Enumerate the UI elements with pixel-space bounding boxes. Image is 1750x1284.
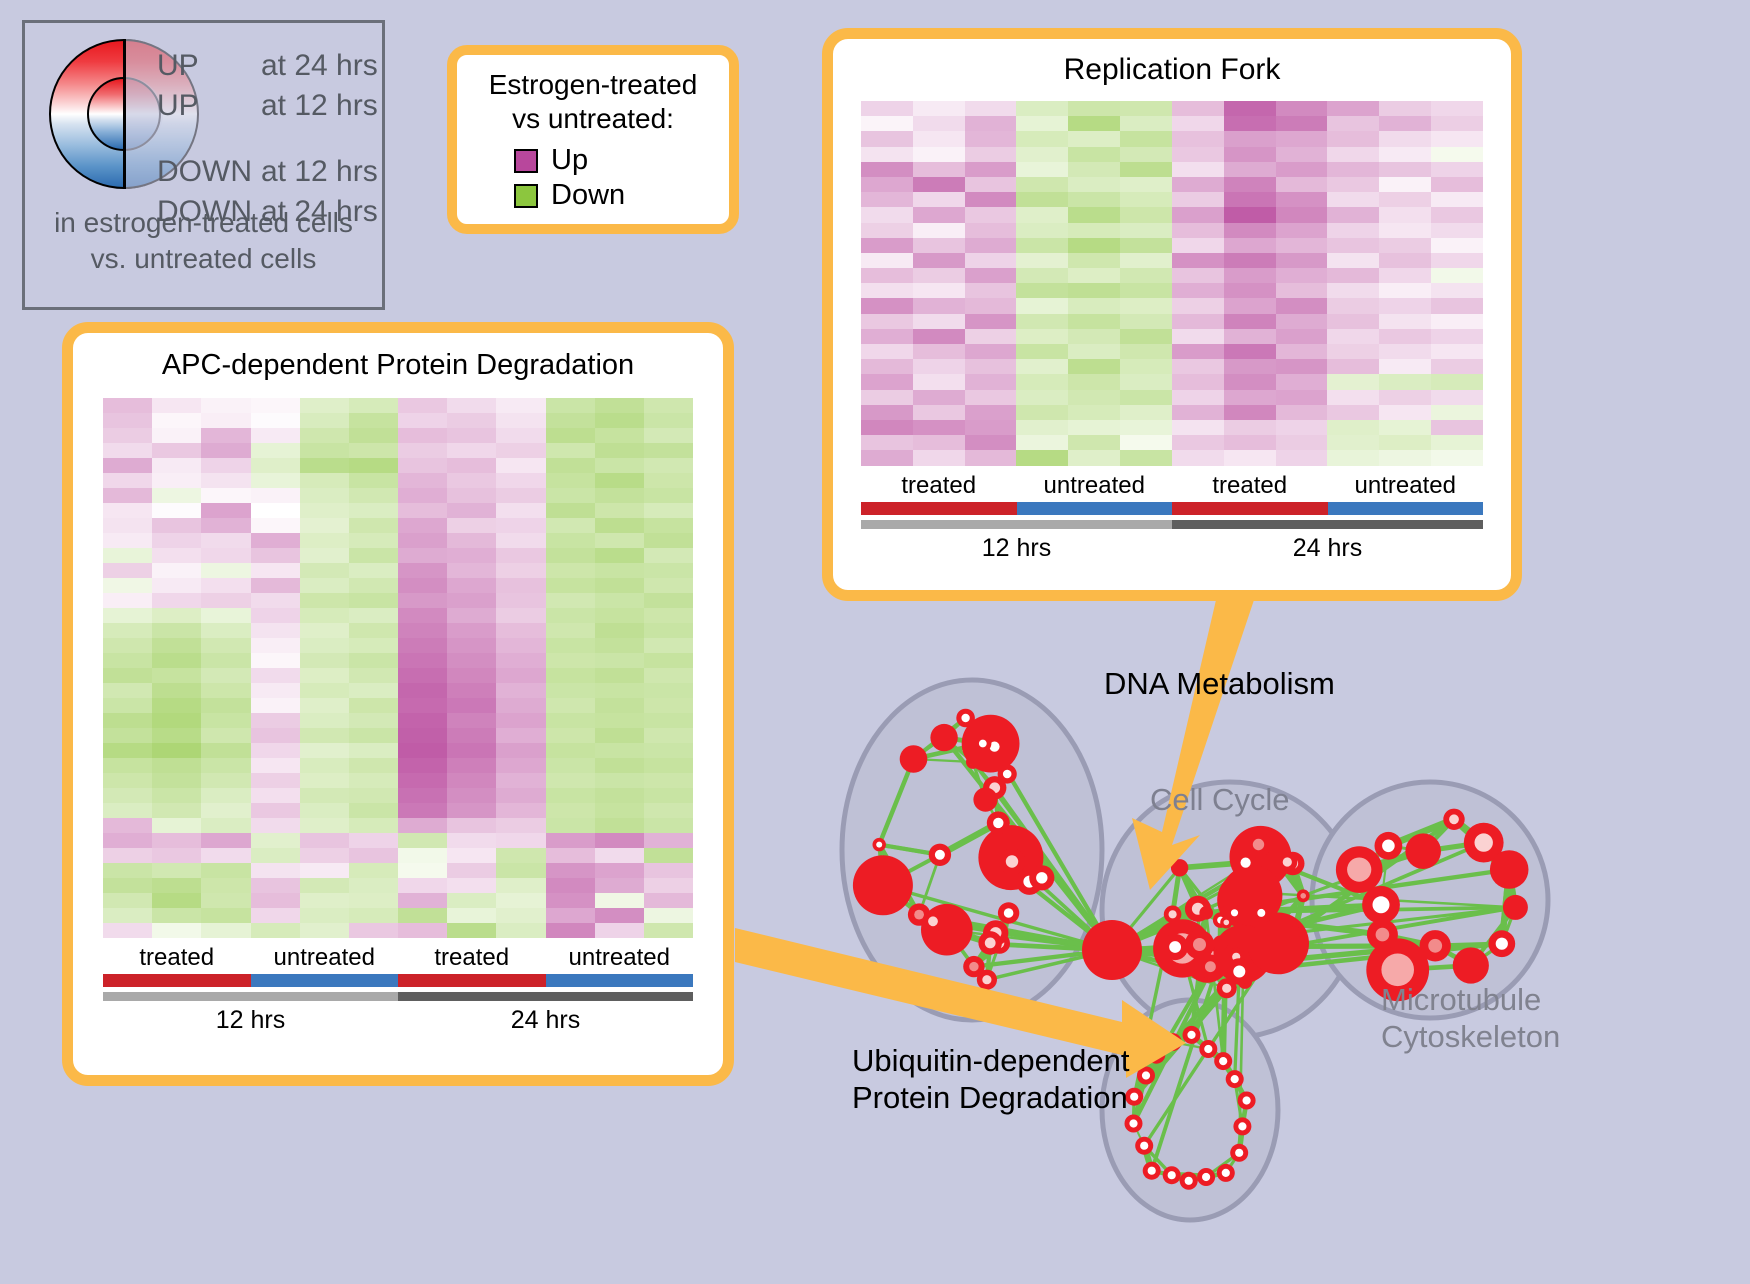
heatmap-cell xyxy=(152,443,201,458)
heatmap-cell xyxy=(398,758,447,773)
heatmap-cell xyxy=(349,503,398,518)
network-node-center xyxy=(876,842,882,848)
heatmap-cell xyxy=(447,563,496,578)
network-node xyxy=(1227,905,1243,921)
network-node xyxy=(1199,1040,1217,1058)
network-node-center xyxy=(1169,910,1177,918)
network-node xyxy=(1197,1168,1215,1186)
heatmap-cell xyxy=(1068,116,1120,131)
network-node xyxy=(998,902,1019,923)
network-node-center xyxy=(1449,814,1459,824)
heatmap-cell xyxy=(644,653,693,668)
heatmap-cell xyxy=(1172,435,1224,450)
heatmap-cell xyxy=(349,623,398,638)
network-node xyxy=(999,848,1026,875)
heatmap-cell xyxy=(349,833,398,848)
heatmap-cell xyxy=(1172,101,1224,116)
heatmap-cell xyxy=(447,533,496,548)
heatmap-cell xyxy=(644,398,693,413)
apc-degradation-chart: treateduntreatedtreateduntreated 12 hrs2… xyxy=(103,398,693,1035)
replication-fork-heatmap xyxy=(861,101,1483,466)
heatmap-cell xyxy=(349,428,398,443)
heatmap-cell xyxy=(103,788,152,803)
heatmap-cell xyxy=(546,653,595,668)
heatmap-cell xyxy=(201,593,250,608)
heatmap-cell xyxy=(447,503,496,518)
network-node xyxy=(1163,1166,1181,1184)
network-diagram xyxy=(790,610,1750,1279)
key-time-up-24: at 24 hrs xyxy=(261,49,378,83)
heatmap-cell xyxy=(546,893,595,908)
heatmap-cell xyxy=(965,223,1017,238)
heatmap-cell xyxy=(1224,359,1276,374)
heatmap-cell xyxy=(1379,450,1431,465)
condition-label: treated xyxy=(103,944,251,972)
condition-bar xyxy=(1017,502,1173,515)
heatmap-cell xyxy=(447,593,496,608)
heatmap-cell xyxy=(447,743,496,758)
heatmap-cell xyxy=(201,578,250,593)
network-node-center xyxy=(1152,1051,1160,1059)
color-key-footer-line2: vs. untreated cells xyxy=(25,241,382,277)
heatmap-cell xyxy=(398,653,447,668)
network-node-center xyxy=(961,714,969,722)
heatmap-cell xyxy=(965,177,1017,192)
heatmap-cell xyxy=(1172,298,1224,313)
heatmap-cell xyxy=(1276,359,1328,374)
heatmap-cell xyxy=(251,548,300,563)
heatmap-cell xyxy=(644,608,693,623)
heatmap-cell xyxy=(447,803,496,818)
heatmap-cell xyxy=(1224,253,1276,268)
network-node-center xyxy=(1347,858,1371,882)
heatmap-cell xyxy=(1431,192,1483,207)
heatmap-cell xyxy=(103,863,152,878)
heatmap-cell xyxy=(546,743,595,758)
network-node xyxy=(1233,1117,1251,1135)
heatmap-cell xyxy=(861,420,913,435)
heatmap-cell xyxy=(349,563,398,578)
key-direction-up-24: UP xyxy=(157,49,261,83)
heatmap-cell xyxy=(447,548,496,563)
heatmap-cell xyxy=(398,713,447,728)
heatmap-cell xyxy=(1276,238,1328,253)
heatmap-cell xyxy=(349,848,398,863)
network-node-center xyxy=(1222,1169,1230,1177)
heatmap-cell xyxy=(1016,162,1068,177)
heatmap-cell xyxy=(201,608,250,623)
heatmap-cell xyxy=(1327,329,1379,344)
network-node-center xyxy=(1006,855,1018,867)
heatmap-cell xyxy=(251,923,300,938)
apc-degradation-condition-labels: treateduntreatedtreateduntreated xyxy=(103,944,693,972)
heatmap-cell xyxy=(1224,131,1276,146)
heatmap-cell xyxy=(300,413,349,428)
heatmap-cell xyxy=(644,593,693,608)
network-node-center xyxy=(1187,1031,1195,1039)
heatmap-cell xyxy=(1068,450,1120,465)
heatmap-cell xyxy=(349,518,398,533)
heatmap-cell xyxy=(496,728,545,743)
heatmap-cell xyxy=(595,728,644,743)
heatmap-cell xyxy=(251,428,300,443)
heatmap-cell xyxy=(201,668,250,683)
heatmap-cell xyxy=(496,908,545,923)
heatmap-cell xyxy=(644,743,693,758)
time-bar xyxy=(398,992,693,1001)
key-row-down-12: DOWNat 12 hrs xyxy=(157,155,378,189)
heatmap-cell xyxy=(103,488,152,503)
heatmap-cell xyxy=(152,518,201,533)
network-node xyxy=(1183,1026,1201,1044)
heatmap-cell xyxy=(300,668,349,683)
heatmap-cell xyxy=(251,773,300,788)
heatmap-cell xyxy=(1276,192,1328,207)
heatmap-cell xyxy=(103,743,152,758)
heatmap-cell xyxy=(103,803,152,818)
heatmap-cell xyxy=(201,743,250,758)
heatmap-cell xyxy=(595,608,644,623)
condition-bar xyxy=(546,974,694,987)
heatmap-cell xyxy=(496,488,545,503)
heatmap-cell xyxy=(546,578,595,593)
heatmap-cell xyxy=(1016,314,1068,329)
heatmap-cell xyxy=(447,488,496,503)
heatmap-cell xyxy=(1068,298,1120,313)
heatmap-cell xyxy=(1068,101,1120,116)
heatmap-cell xyxy=(644,518,693,533)
heatmap-cell xyxy=(152,758,201,773)
heatmap-cell xyxy=(644,713,693,728)
heatmap-cell xyxy=(496,758,545,773)
heatmap-cell xyxy=(496,863,545,878)
heatmap-cell xyxy=(300,773,349,788)
heatmap-cell xyxy=(349,728,398,743)
heatmap-cell xyxy=(644,488,693,503)
heatmap-cell xyxy=(1379,405,1431,420)
heatmap-cell xyxy=(965,147,1017,162)
legend-swatch-up xyxy=(514,149,538,173)
figure-root: UPat 24 hrs UPat 12 hrs DOWNat 12 hrs DO… xyxy=(0,0,1750,1279)
heatmap-cell xyxy=(546,548,595,563)
network-node xyxy=(1226,1070,1244,1088)
network-node xyxy=(1362,886,1400,924)
heatmap-cell xyxy=(103,848,152,863)
heatmap-cell xyxy=(861,253,913,268)
heatmap-cell xyxy=(1068,131,1120,146)
heatmap-cell xyxy=(152,863,201,878)
heatmap-cell xyxy=(1016,101,1068,116)
heatmap-cell xyxy=(595,473,644,488)
heatmap-cell xyxy=(251,623,300,638)
heatmap-cell xyxy=(861,298,913,313)
heatmap-cell xyxy=(1120,405,1172,420)
heatmap-cell xyxy=(546,878,595,893)
heatmap-cell xyxy=(1068,223,1120,238)
network-node xyxy=(974,735,991,752)
legend-title-line1: Estrogen-treated xyxy=(457,68,729,102)
heatmap-cell xyxy=(1172,223,1224,238)
key-row-up-24: UPat 24 hrs xyxy=(157,49,378,83)
heatmap-cell xyxy=(349,758,398,773)
heatmap-cell xyxy=(1016,131,1068,146)
heatmap-cell xyxy=(496,413,545,428)
heatmap-cell xyxy=(496,398,545,413)
heatmap-cell xyxy=(300,473,349,488)
heatmap-cell xyxy=(644,908,693,923)
heatmap-cell xyxy=(1224,390,1276,405)
heatmap-cell xyxy=(201,923,250,938)
heatmap-cell xyxy=(965,405,1017,420)
network-node-center xyxy=(1003,770,1012,779)
heatmap-cell xyxy=(251,743,300,758)
heatmap-cell xyxy=(546,563,595,578)
heatmap-cell xyxy=(1172,329,1224,344)
heatmap-cell xyxy=(103,473,152,488)
heatmap-cell xyxy=(398,458,447,473)
heatmap-cell xyxy=(595,593,644,608)
heatmap-cell xyxy=(398,443,447,458)
heatmap-cell xyxy=(1068,283,1120,298)
heatmap-cell xyxy=(1379,329,1431,344)
heatmap-cell xyxy=(398,818,447,833)
network-node-center xyxy=(1428,939,1442,953)
heatmap-cell xyxy=(861,131,913,146)
heatmap-cell xyxy=(1276,177,1328,192)
network-node xyxy=(1137,1067,1155,1085)
heatmap-cell xyxy=(861,329,913,344)
heatmap-cell xyxy=(644,788,693,803)
heatmap-cell xyxy=(1120,223,1172,238)
heatmap-cell xyxy=(300,893,349,908)
heatmap-cell xyxy=(496,473,545,488)
heatmap-cell xyxy=(595,698,644,713)
heatmap-cell xyxy=(398,923,447,938)
heatmap-cell xyxy=(496,593,545,608)
heatmap-cell xyxy=(1016,435,1068,450)
heatmap-cell xyxy=(1327,374,1379,389)
heatmap-cell xyxy=(861,238,913,253)
heatmap-cell xyxy=(595,713,644,728)
legend-panel: Estrogen-treated vs untreated: Up Down xyxy=(447,45,739,234)
heatmap-cell xyxy=(300,923,349,938)
heatmap-cell xyxy=(1068,390,1120,405)
heatmap-cell xyxy=(1016,405,1068,420)
heatmap-cell xyxy=(546,608,595,623)
heatmap-cell xyxy=(1276,147,1328,162)
heatmap-cell xyxy=(152,848,201,863)
heatmap-cell xyxy=(595,683,644,698)
heatmap-cell xyxy=(1379,131,1431,146)
heatmap-cell xyxy=(1120,450,1172,465)
heatmap-cell xyxy=(349,413,398,428)
heatmap-cell xyxy=(447,923,496,938)
heatmap-cell xyxy=(1068,268,1120,283)
network-node-center xyxy=(1130,1093,1138,1101)
heatmap-cell xyxy=(300,563,349,578)
network-node xyxy=(978,931,1002,955)
network-node xyxy=(1226,958,1253,985)
heatmap-cell xyxy=(398,593,447,608)
heatmap-cell xyxy=(201,758,250,773)
heatmap-cell xyxy=(152,578,201,593)
heatmap-cell xyxy=(496,773,545,788)
time-bar xyxy=(861,520,1172,529)
heatmap-cell xyxy=(496,683,545,698)
heatmap-cell xyxy=(1431,162,1483,177)
heatmap-cell xyxy=(103,458,152,473)
heatmap-cell xyxy=(398,803,447,818)
network-node xyxy=(1238,1092,1256,1110)
heatmap-cell xyxy=(1172,207,1224,222)
heatmap-cell xyxy=(1068,192,1120,207)
heatmap-cell xyxy=(103,548,152,563)
network-node xyxy=(977,970,997,990)
heatmap-cell xyxy=(152,638,201,653)
heatmap-cell xyxy=(546,713,595,728)
heatmap-cell xyxy=(1224,147,1276,162)
heatmap-cell xyxy=(1016,223,1068,238)
heatmap-cell xyxy=(300,863,349,878)
network-node-center xyxy=(969,962,978,971)
heatmap-cell xyxy=(1068,253,1120,268)
heatmap-cell xyxy=(103,893,152,908)
heatmap-cell xyxy=(398,623,447,638)
heatmap-cell xyxy=(595,503,644,518)
heatmap-cell xyxy=(913,116,965,131)
heatmap-cell xyxy=(546,638,595,653)
heatmap-cell xyxy=(1379,298,1431,313)
heatmap-cell xyxy=(251,473,300,488)
heatmap-cell xyxy=(1276,162,1328,177)
heatmap-cell xyxy=(251,638,300,653)
network-node-center xyxy=(1475,833,1493,851)
network-node xyxy=(1198,955,1222,979)
heatmap-cell xyxy=(913,147,965,162)
heatmap-cell xyxy=(1327,390,1379,405)
heatmap-cell xyxy=(644,698,693,713)
heatmap-cell xyxy=(913,420,965,435)
heatmap-cell xyxy=(1224,344,1276,359)
heatmap-cell xyxy=(496,788,545,803)
heatmap-cell xyxy=(1327,298,1379,313)
heatmap-cell xyxy=(1016,253,1068,268)
heatmap-cell xyxy=(644,623,693,638)
heatmap-cell xyxy=(1327,314,1379,329)
heatmap-cell xyxy=(595,428,644,443)
network-node-center xyxy=(928,916,938,926)
heatmap-cell xyxy=(1172,344,1224,359)
heatmap-cell xyxy=(496,623,545,638)
heatmap-cell xyxy=(349,458,398,473)
network-node xyxy=(987,811,1010,834)
heatmap-cell xyxy=(1068,435,1120,450)
condition-bar xyxy=(1172,502,1328,515)
network-node xyxy=(1199,906,1213,920)
apc-degradation-time-bars xyxy=(103,992,693,1001)
heatmap-cell xyxy=(1016,192,1068,207)
heatmap-cell xyxy=(103,623,152,638)
network-node-center xyxy=(1129,1119,1137,1127)
network-node xyxy=(1135,1137,1153,1155)
condition-bar xyxy=(251,974,399,987)
heatmap-cell xyxy=(595,923,644,938)
heatmap-cell xyxy=(447,698,496,713)
legend-swatch-down xyxy=(514,184,538,208)
heatmap-cell xyxy=(447,623,496,638)
network-node xyxy=(1147,1046,1165,1064)
network-node-center xyxy=(1140,1142,1148,1150)
heatmap-cell xyxy=(1016,374,1068,389)
heatmap-cell xyxy=(496,893,545,908)
heatmap-cell xyxy=(644,413,693,428)
heatmap-cell xyxy=(152,743,201,758)
heatmap-cell xyxy=(251,833,300,848)
heatmap-cell xyxy=(496,548,545,563)
heatmap-cell xyxy=(103,398,152,413)
heatmap-cell xyxy=(152,833,201,848)
heatmap-cell xyxy=(103,593,152,608)
heatmap-cell xyxy=(861,207,913,222)
heatmap-cell xyxy=(1172,162,1224,177)
heatmap-cell xyxy=(861,344,913,359)
heatmap-cell xyxy=(1276,101,1328,116)
heatmap-cell xyxy=(300,698,349,713)
heatmap-cell xyxy=(1431,314,1483,329)
time-label: 12 hrs xyxy=(103,1006,398,1035)
network-node-center xyxy=(1376,928,1390,942)
heatmap-cell xyxy=(300,713,349,728)
heatmap-cell xyxy=(103,773,152,788)
replication-fork-time-labels: 12 hrs24 hrs xyxy=(861,534,1483,563)
cluster-label-microtubule-cytoskeleton: Microtubule Cytoskeleton xyxy=(1381,982,1560,1055)
heatmap-cell xyxy=(447,473,496,488)
heatmap-cell xyxy=(349,578,398,593)
heatmap-cell xyxy=(913,207,965,222)
heatmap-cell xyxy=(1068,329,1120,344)
time-label: 24 hrs xyxy=(398,1006,693,1035)
heatmap-cell xyxy=(595,878,644,893)
heatmap-cell xyxy=(201,893,250,908)
heatmap-cell xyxy=(546,518,595,533)
heatmap-cell xyxy=(1068,405,1120,420)
network-node-center xyxy=(1241,858,1251,868)
heatmap-cell xyxy=(201,398,250,413)
replication-fork-time-bars xyxy=(861,520,1483,529)
heatmap-cell xyxy=(1120,420,1172,435)
heatmap-cell xyxy=(1172,253,1224,268)
heatmap-cell xyxy=(251,728,300,743)
heatmap-cell xyxy=(300,503,349,518)
heatmap-cell xyxy=(1431,329,1483,344)
heatmap-cell xyxy=(1431,344,1483,359)
network-node xyxy=(1252,904,1270,922)
heatmap-cell xyxy=(1224,374,1276,389)
network-node xyxy=(1213,936,1228,951)
heatmap-cell xyxy=(103,533,152,548)
heatmap-cell xyxy=(201,653,250,668)
network-node-center xyxy=(1231,909,1238,916)
heatmap-cell xyxy=(496,638,545,653)
heatmap-cell xyxy=(201,773,250,788)
condition-bar xyxy=(1328,502,1484,515)
heatmap-cell xyxy=(1276,283,1328,298)
heatmap-cell xyxy=(644,848,693,863)
heatmap-cell xyxy=(152,728,201,743)
network-node xyxy=(1288,926,1301,939)
heatmap-cell xyxy=(152,773,201,788)
heatmap-cell xyxy=(1120,329,1172,344)
